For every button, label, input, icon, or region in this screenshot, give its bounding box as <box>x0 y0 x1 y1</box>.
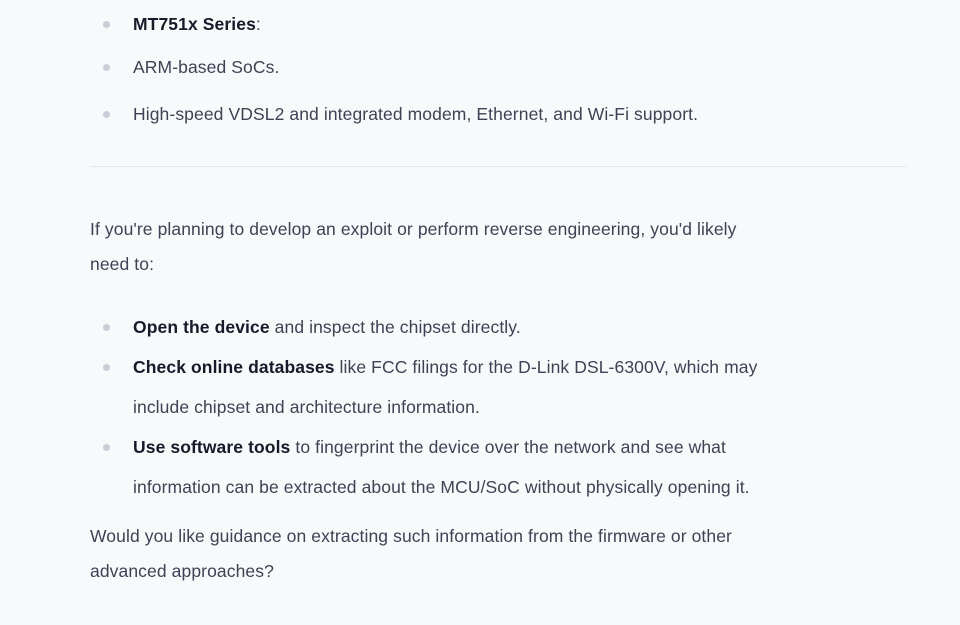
closing-paragraph: Would you like guidance on extracting su… <box>90 519 906 589</box>
action-continuation: include chipset and architecture informa… <box>133 387 906 427</box>
bullet-dot-icon <box>103 324 110 331</box>
bullet-dot-icon <box>103 364 110 371</box>
series-title-suffix: : <box>256 14 261 34</box>
closing-line-2: advanced approaches? <box>90 561 274 581</box>
action-strong: Use software tools <box>133 437 290 457</box>
list-item: MT751x Series: <box>90 4 906 44</box>
message-content-page: MT751x Series: ARM-based SoCs. High-spee… <box>0 0 960 625</box>
bullet-dot-icon <box>103 111 110 118</box>
action-continuation: information can be extracted about the M… <box>133 467 906 507</box>
content-column: MT751x Series: ARM-based SoCs. High-spee… <box>90 0 906 589</box>
bullet-dot-icon <box>103 21 110 28</box>
intro-line-2: need to: <box>90 254 154 274</box>
bullet-dot-icon <box>103 64 110 71</box>
action-rest: like FCC filings for the D-Link DSL-6300… <box>335 357 758 377</box>
list-item: Open the device and inspect the chipset … <box>90 307 906 347</box>
sub-item-text: ARM-based SoCs. <box>133 57 279 77</box>
series-title: MT751x Series <box>133 14 256 34</box>
series-list: MT751x Series: <box>90 4 906 44</box>
list-item: Check online databases like FCC filings … <box>90 347 906 427</box>
intro-line-1: If you're planning to develop an exploit… <box>90 219 737 239</box>
sub-item-text: High-speed VDSL2 and integrated modem, E… <box>133 104 698 124</box>
action-rest: and inspect the chipset directly. <box>270 317 521 337</box>
action-strong: Open the device <box>133 317 270 337</box>
action-list: Open the device and inspect the chipset … <box>90 307 906 507</box>
series-sub-list: ARM-based SoCs. High-speed VDSL2 and int… <box>90 44 906 138</box>
action-rest: to fingerprint the device over the netwo… <box>290 437 726 457</box>
bullet-dot-icon <box>103 444 110 451</box>
list-item: ARM-based SoCs. <box>90 44 906 91</box>
list-item: High-speed VDSL2 and integrated modem, E… <box>90 91 906 138</box>
intro-paragraph: If you're planning to develop an exploit… <box>90 212 906 282</box>
closing-line-1: Would you like guidance on extracting su… <box>90 526 732 546</box>
list-item: Use software tools to fingerprint the de… <box>90 427 906 507</box>
action-strong: Check online databases <box>133 357 335 377</box>
